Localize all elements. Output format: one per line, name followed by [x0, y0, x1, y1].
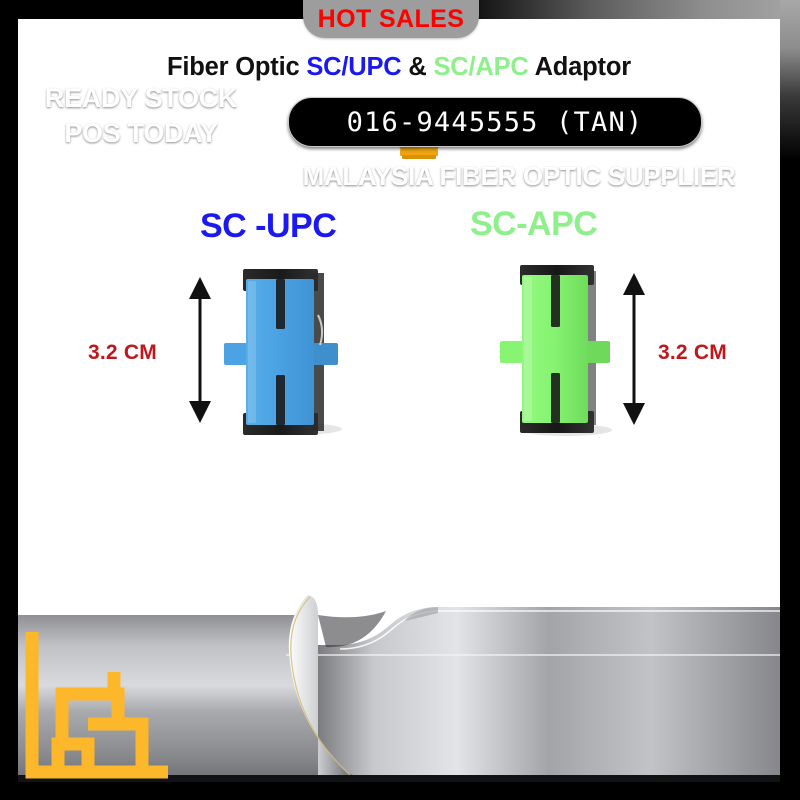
product-label-upc: SC -UPC: [200, 207, 336, 246]
frame-bottom-edge: [0, 782, 800, 800]
advertisement-image: Fiber Optic SC/UPC & SC/APC Adaptor SC -…: [0, 0, 800, 800]
frame-left-edge: [0, 0, 18, 800]
title-amp: &: [402, 53, 434, 81]
phone-number-text: 016-9445555 (TAN): [347, 109, 644, 136]
maze-logo-icon: [18, 632, 188, 782]
hot-sales-label: HOT SALES: [318, 7, 465, 32]
title-upc: SC/UPC: [306, 53, 401, 81]
title-suffix: Adaptor: [529, 53, 631, 81]
dimension-label-left: 3.2 CM: [88, 341, 157, 365]
title-apc: SC/APC: [434, 53, 529, 81]
supplier-text: MALAYSIA FIBER OPTIC SUPPLIER: [263, 161, 775, 192]
frame-right-edge: [780, 0, 800, 800]
product-card: Fiber Optic SC/UPC & SC/APC Adaptor SC -…: [18, 19, 780, 782]
dimension-arrow-right-icon: [620, 273, 648, 425]
sc-upc-adapter-image: [218, 267, 363, 437]
ready-stock-text: READY STOCK POS TODAY: [26, 81, 256, 150]
dimension-label-right: 3.2 CM: [658, 341, 727, 365]
title-prefix: Fiber Optic: [167, 53, 306, 81]
hot-sales-tab: HOT SALES: [303, 0, 479, 38]
ready-stock-line2: POS TODAY: [26, 116, 256, 151]
product-label-apc: SC-APC: [470, 205, 597, 244]
page-title: Fiber Optic SC/UPC & SC/APC Adaptor: [18, 53, 780, 82]
dimension-arrow-left-icon: [186, 277, 214, 423]
ready-stock-line1: READY STOCK: [26, 81, 256, 116]
phone-number-badge[interactable]: 016-9445555 (TAN): [288, 97, 702, 147]
